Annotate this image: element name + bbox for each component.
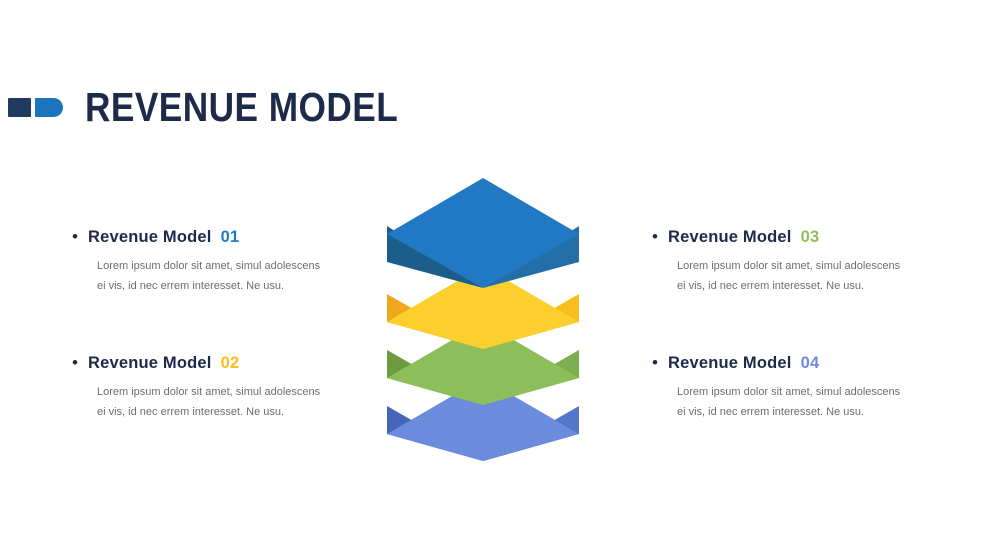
isometric-stack-diagram — [383, 172, 583, 467]
item-description: Lorem ipsum dolor sit amet, simul adoles… — [677, 256, 922, 297]
item-number: 03 — [801, 228, 820, 247]
bullet-icon: • — [72, 228, 78, 245]
item-heading: • Revenue Model 01 — [72, 228, 347, 247]
description-line-2: ei vis, id nec errem interesset. Ne usu. — [97, 276, 342, 296]
item-label: Revenue Model — [668, 228, 792, 247]
description-line-2: ei vis, id nec errem interesset. Ne usu. — [677, 276, 922, 296]
description-line-2: ei vis, id nec errem interesset. Ne usu. — [677, 402, 922, 422]
description-line-1: Lorem ipsum dolor sit amet, simul adoles… — [97, 256, 342, 276]
decoration-light-pill — [35, 98, 63, 117]
title-row: REVENUE MODEL — [0, 82, 449, 132]
description-line-1: Lorem ipsum dolor sit amet, simul adoles… — [677, 382, 922, 402]
item-description: Lorem ipsum dolor sit amet, simul adoles… — [97, 256, 342, 297]
item-description: Lorem ipsum dolor sit amet, simul adoles… — [677, 382, 922, 423]
revenue-model-item-01: • Revenue Model 01 Lorem ipsum dolor sit… — [72, 228, 347, 297]
bullet-icon: • — [72, 354, 78, 371]
item-description: Lorem ipsum dolor sit amet, simul adoles… — [97, 382, 342, 423]
page-title: REVENUE MODEL — [85, 87, 398, 128]
description-line-2: ei vis, id nec errem interesset. Ne usu. — [97, 402, 342, 422]
layer-blue-top-face — [387, 178, 579, 288]
item-number: 01 — [221, 228, 240, 247]
description-line-1: Lorem ipsum dolor sit amet, simul adoles… — [677, 256, 922, 276]
item-label: Revenue Model — [88, 354, 212, 373]
revenue-model-item-04: • Revenue Model 04 Lorem ipsum dolor sit… — [652, 354, 927, 423]
item-heading: • Revenue Model 03 — [652, 228, 927, 247]
decoration-dark-block — [8, 98, 31, 117]
revenue-model-item-03: • Revenue Model 03 Lorem ipsum dolor sit… — [652, 228, 927, 297]
title-decoration — [8, 98, 63, 117]
description-line-1: Lorem ipsum dolor sit amet, simul adoles… — [97, 382, 342, 402]
revenue-model-item-02: • Revenue Model 02 Lorem ipsum dolor sit… — [72, 354, 347, 423]
item-number: 04 — [801, 354, 820, 373]
item-label: Revenue Model — [668, 354, 792, 373]
bullet-icon: • — [652, 354, 658, 371]
bullet-icon: • — [652, 228, 658, 245]
item-label: Revenue Model — [88, 228, 212, 247]
item-number: 02 — [221, 354, 240, 373]
item-heading: • Revenue Model 04 — [652, 354, 927, 373]
item-heading: • Revenue Model 02 — [72, 354, 347, 373]
stack-layer-blue — [387, 178, 579, 288]
